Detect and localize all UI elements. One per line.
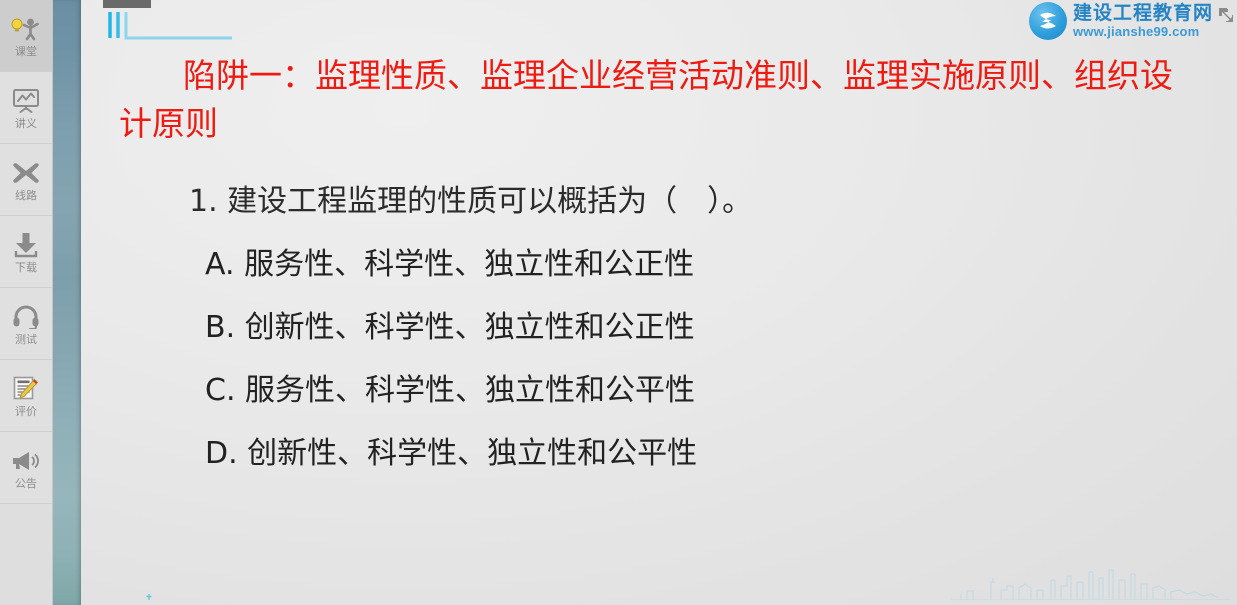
option-d[interactable]: D. 创新性、科学性、独立性和公平性: [205, 422, 1197, 485]
slide-title: 陷阱一：监理性质、监理企业经营活动准则、监理实施原则、组织设计原则: [119, 52, 1189, 148]
sidebar-item-label: 公告: [15, 478, 37, 490]
headset-icon: [11, 302, 41, 332]
option-a[interactable]: A. 服务性、科学性、独立性和公正性: [205, 233, 1197, 296]
question-stem: 1. 建设工程监理的性质可以概括为（ ）。: [189, 170, 1197, 233]
question-block: 1. 建设工程监理的性质可以概括为（ ）。 A. 服务性、科学性、独立性和公正性…: [119, 170, 1197, 485]
option-list: A. 服务性、科学性、独立性和公正性 B. 创新性、科学性、独立性和公正性 C.…: [189, 233, 1197, 485]
slide-canvas: 建设工程教育网 www.jianshe99.com 陷阱一：监理性质、监理企业经…: [81, 0, 1237, 605]
sidebar-item-label: 评价: [15, 406, 37, 418]
sidebar-item-label: 线路: [15, 190, 37, 202]
lecture-player-window: 课堂 讲义 线路: [0, 0, 1237, 605]
megaphone-icon: [11, 446, 41, 476]
sidebar-item-handout[interactable]: 讲义: [0, 72, 52, 144]
sidebar-item-label: 测试: [15, 334, 37, 346]
city-skyline-watermark: [951, 560, 1231, 605]
sidebar-item-evaluation[interactable]: 评价: [0, 360, 52, 432]
shuffle-arrows-icon: [11, 158, 41, 188]
option-b[interactable]: B. 创新性、科学性、独立性和公正性: [205, 296, 1197, 359]
slide-content: 陷阱一：监理性质、监理企业经营活动准则、监理实施原则、组织设计原则 1. 建设工…: [81, 0, 1237, 605]
sidebar-item-label: 课堂: [15, 46, 37, 58]
notepad-pencil-icon: [11, 374, 41, 404]
sidebar-item-announcement[interactable]: 公告: [0, 432, 52, 504]
sidebar-item-label: 下载: [15, 262, 37, 274]
option-c[interactable]: C. 服务性、科学性、独立性和公平性: [205, 359, 1197, 422]
sidebar-filler: [0, 504, 52, 605]
left-toolbar: 课堂 讲义 线路: [0, 0, 53, 605]
sidebar-item-label: 讲义: [15, 118, 37, 130]
sidebar-item-download[interactable]: 下载: [0, 216, 52, 288]
sidebar-item-test[interactable]: 测试: [0, 288, 52, 360]
sidebar-item-route[interactable]: 线路: [0, 144, 52, 216]
lightbulb-person-icon: [11, 14, 41, 44]
sidebar-item-classroom[interactable]: 课堂: [0, 0, 52, 72]
sparkle-decoration: [143, 586, 161, 605]
download-arrow-icon: [11, 230, 41, 260]
gradient-divider: [53, 0, 81, 605]
presentation-board-icon: [11, 86, 41, 116]
